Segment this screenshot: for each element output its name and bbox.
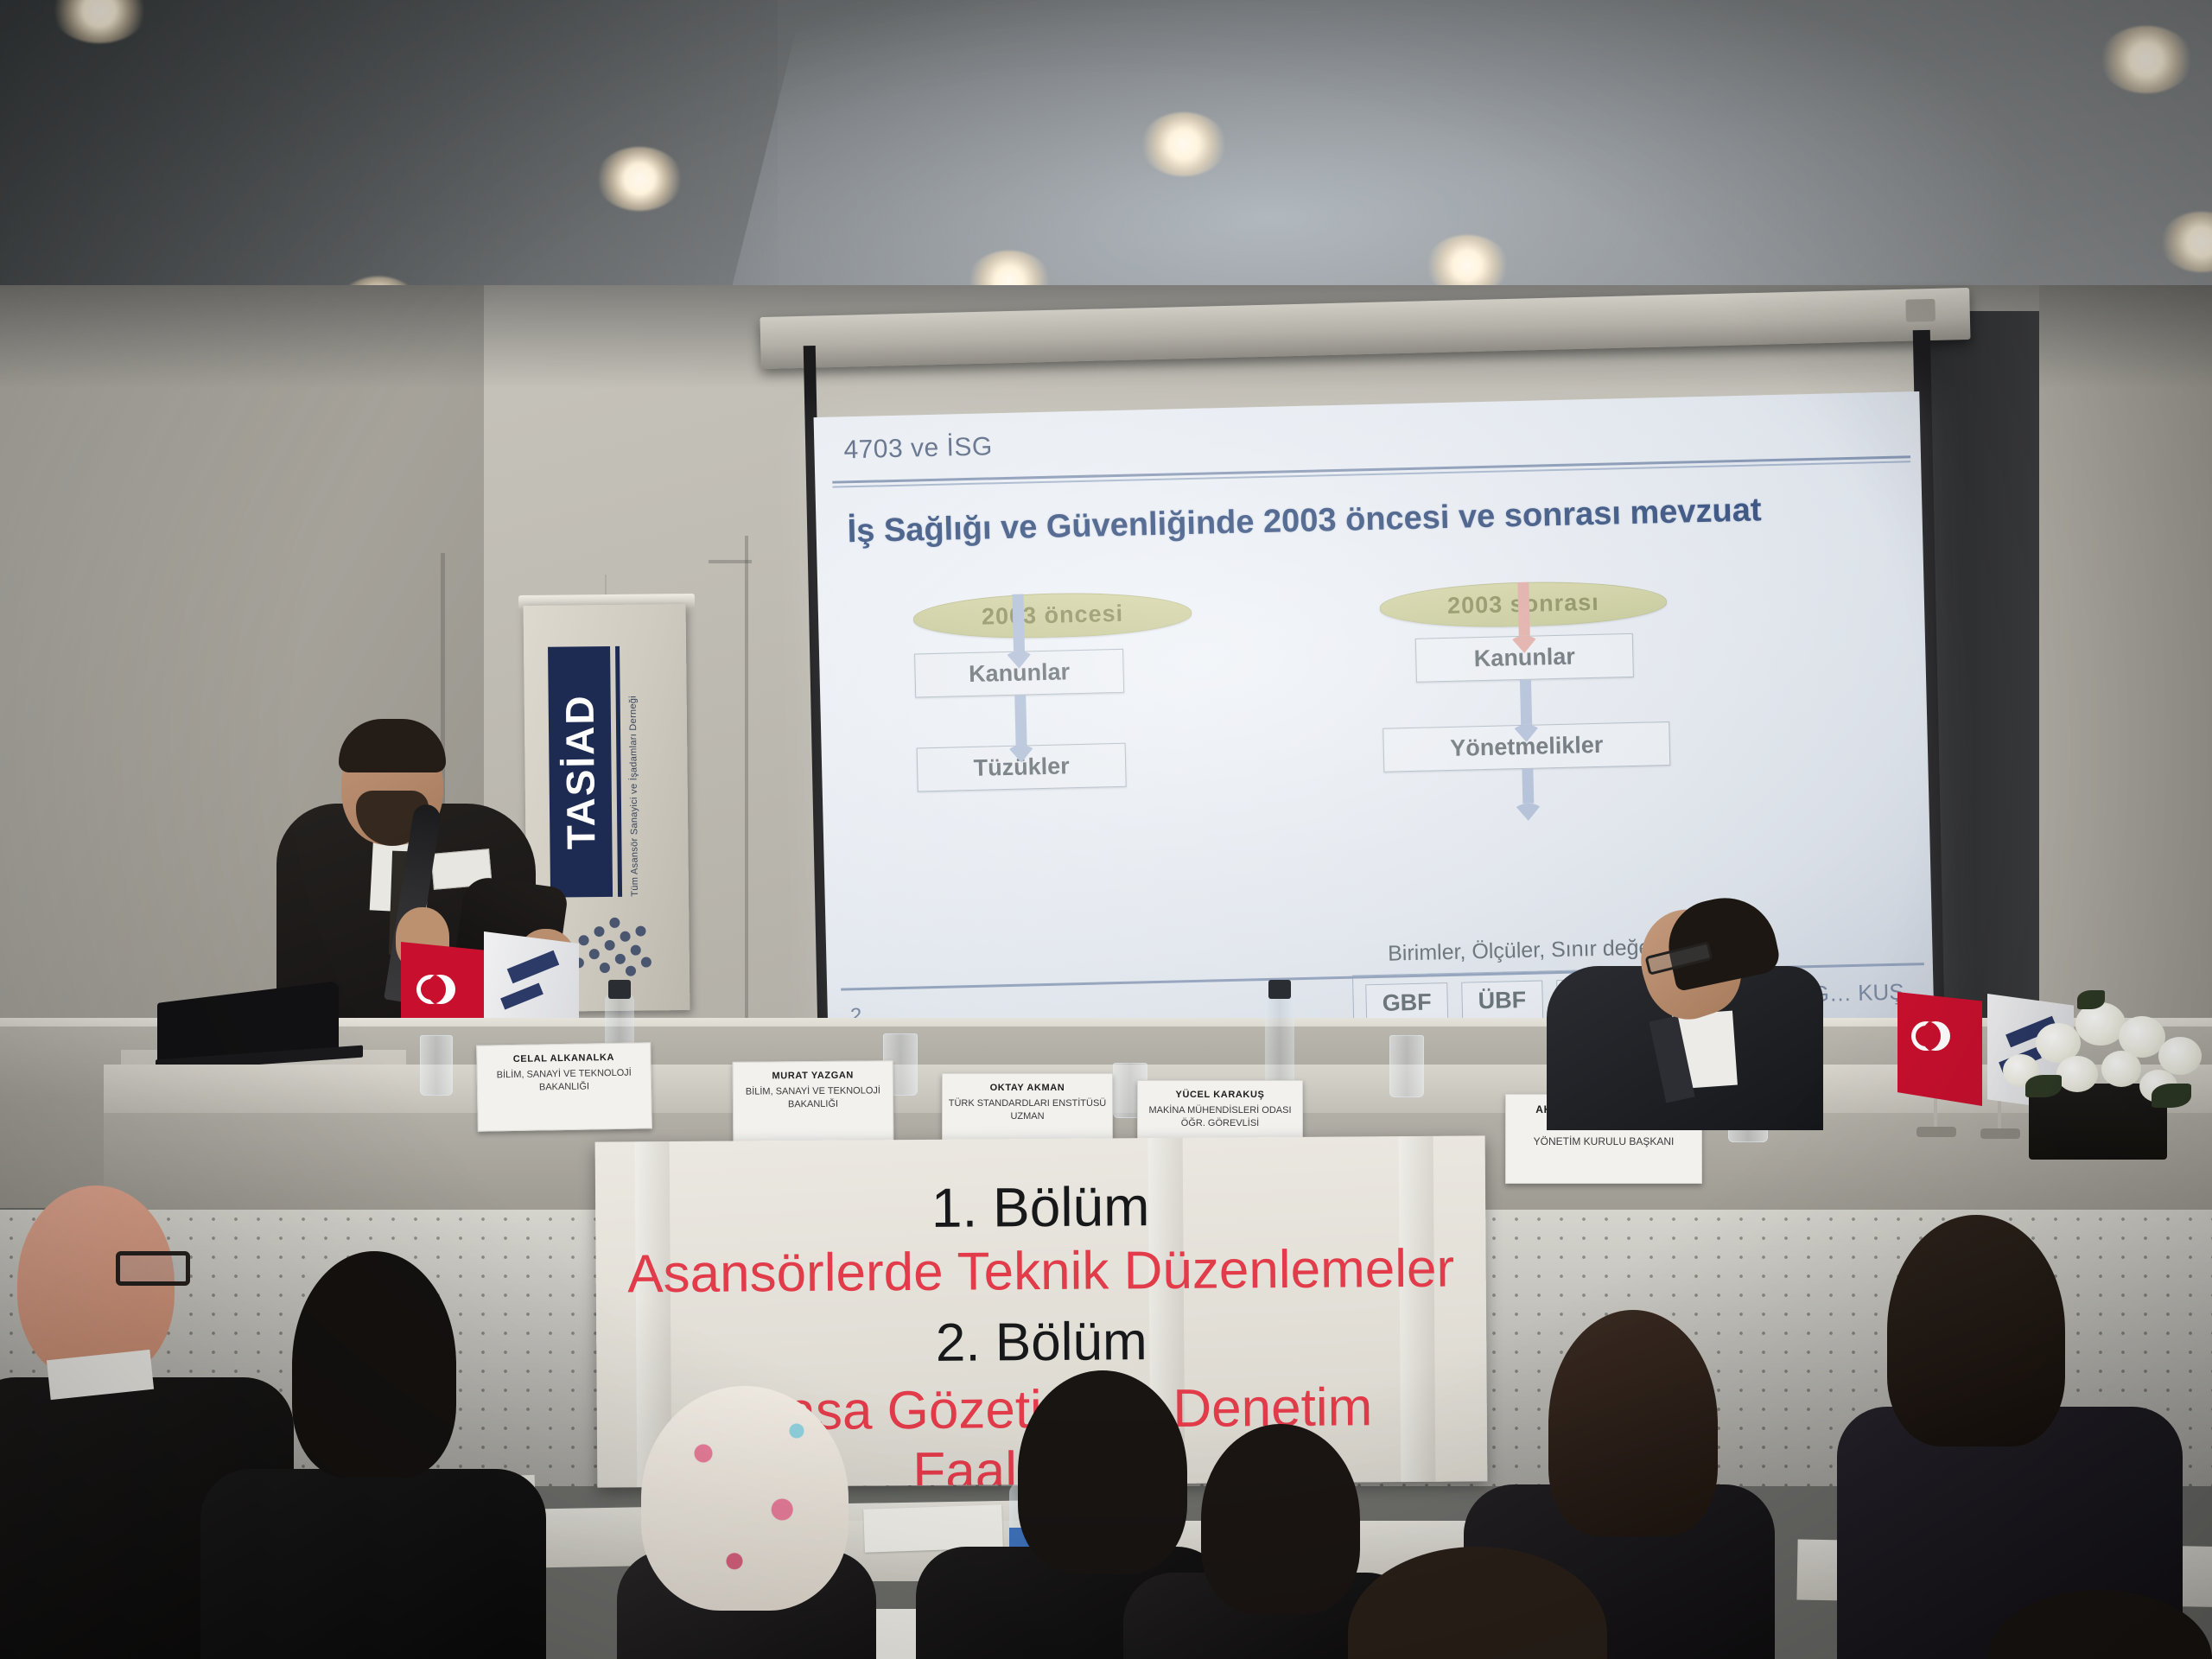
- wall-seam: [745, 536, 748, 1037]
- flag-base: [1980, 1128, 2020, 1139]
- flower-leaf: [2025, 1075, 2062, 1097]
- audience-paper: [863, 1504, 1003, 1553]
- photo-scene: 4703 ve İSG İş Sağlığı ve Güvenliğinde 2…: [0, 0, 2212, 1659]
- wall-seam: [709, 560, 752, 563]
- slide-header-rule-2: [832, 461, 1910, 487]
- flow-right-arrow-3: [1512, 768, 1542, 804]
- headscarf: [641, 1386, 849, 1611]
- flow-right-arrow-2: [1510, 679, 1541, 725]
- flow-left-head-box: 2003 öncesi: [912, 590, 1192, 641]
- flag-base: [1916, 1127, 1956, 1137]
- audience-head: [1887, 1215, 2065, 1446]
- nameplate-name: YÜCEL KARAKUŞ: [1138, 1090, 1302, 1100]
- banner-line-3: 2. Bölüm: [596, 1308, 1486, 1376]
- crescent-star-icon: [416, 975, 446, 1004]
- slide-title: İş Sağlığı ve Güvenliğinde 2003 öncesi v…: [847, 489, 1897, 551]
- crescent-star-icon: [1911, 1021, 1941, 1051]
- nameplate-role: YÖNETİM KURULU BAŞKANI: [1506, 1135, 1701, 1147]
- nameplate-role: BAKANLIĞI: [734, 1098, 893, 1110]
- screen-housing-knob: [1905, 299, 1935, 322]
- audience-body: [200, 1469, 546, 1659]
- audience-head: [1548, 1310, 1718, 1536]
- nameplate-role: BAKANLIĞI: [478, 1080, 651, 1093]
- nameplate-org: BİLİM, SANAYİ VE TEKNOLOJİ: [734, 1085, 893, 1097]
- chip-ubf: ÜBF: [1461, 980, 1543, 1020]
- nameplate-role: UZMAN: [943, 1111, 1112, 1122]
- flower-leaf: [2152, 1084, 2191, 1108]
- audience-head: [1201, 1424, 1360, 1614]
- nameplate-name: OKTAY AKMAN: [943, 1083, 1112, 1093]
- nameplate-name: MURAT YAZGAN: [734, 1070, 893, 1082]
- downlight-icon: [2100, 26, 2193, 93]
- eyeglasses-icon: [116, 1251, 190, 1286]
- water-bottle: [1265, 994, 1294, 1092]
- nameplate-org: BİLİM, SANAYİ VE TEKNOLOJİ: [478, 1067, 651, 1080]
- downlight-icon: [596, 147, 683, 211]
- downlight-icon: [2160, 212, 2212, 272]
- nameplate-role: ÖĞR. GÖREVLİSİ: [1138, 1118, 1302, 1128]
- water-glass: [420, 1035, 453, 1096]
- flow-left-arrow-1: [1002, 594, 1033, 652]
- wall-recess: [1927, 311, 2039, 1028]
- flow-left-column: 2003 öncesi Kanunlar Tüzükler: [912, 592, 1126, 792]
- flow-right-arrow-1: [1508, 582, 1538, 636]
- slide-header: 4703 ve İSG: [843, 411, 1897, 466]
- nameplate-org: TÜRK STANDARDLARI ENSTİTÜSÜ: [943, 1098, 1112, 1109]
- flower-bloom: [2158, 1037, 2202, 1075]
- audience-head: [1018, 1370, 1187, 1574]
- flow-left-arrow-2: [1005, 695, 1035, 746]
- flow-right-column: 2003 sonrası Kanunlar Yönetmelikler: [1379, 579, 1671, 807]
- nameplate-name: CELAL ALKANALKA: [477, 1052, 650, 1065]
- audience-head: [292, 1251, 456, 1478]
- tasiad-tagline: Tüm Asansör Sanayici ve İşadamları Derne…: [627, 655, 640, 897]
- banner-line-2: Asansörlerde Teknik Düzenlemeler: [595, 1237, 1485, 1305]
- water-glass: [1389, 1035, 1424, 1097]
- tasiad-wordmark: TASİAD: [556, 694, 605, 849]
- tasiad-logo-plate: TASİAD: [548, 646, 613, 898]
- banner-line-1: 1. Bölüm: [595, 1172, 1485, 1242]
- flower-bloom: [2056, 1056, 2098, 1092]
- nameplate: CELAL ALKANALKA BİLİM, SANAYİ VE TEKNOLO…: [476, 1042, 652, 1132]
- tasiad-logo-rule: [615, 646, 622, 897]
- downlight-icon: [1141, 112, 1227, 176]
- bottle-cap: [608, 980, 631, 999]
- flower-bloom: [2101, 1051, 2141, 1087]
- nameplate: MURAT YAZGAN BİLİM, SANAYİ VE TEKNOLOJİ …: [733, 1060, 894, 1147]
- flower-leaf: [2077, 990, 2105, 1009]
- nameplate-org: MAKİNA MÜHENDİSLERİ ODASI: [1138, 1105, 1302, 1116]
- bottle-cap: [1268, 980, 1291, 999]
